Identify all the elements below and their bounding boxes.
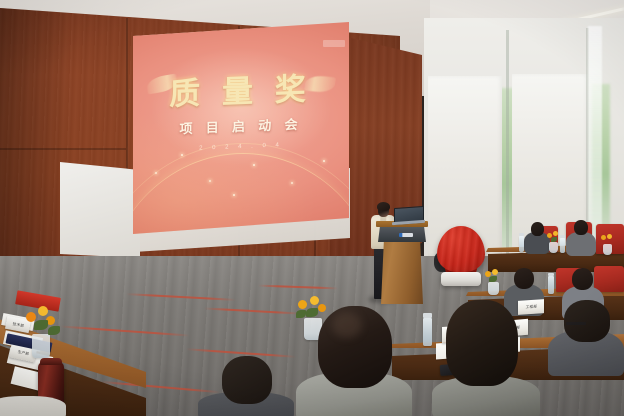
flower-bloom	[26, 312, 36, 322]
thermos-lid	[40, 358, 62, 365]
attendee-torso	[566, 232, 596, 256]
presentation-slide: 质 量 奖 项 目 启 动 会 2 0 2 4 . 0 4	[133, 22, 349, 234]
slide-sparkle	[291, 182, 293, 184]
placard-label: 工程部	[525, 305, 537, 309]
speaker-hair	[377, 202, 390, 211]
conference-room-photo: 质 量 奖 项 目 启 动 会 2 0 2 4 . 0 4	[0, 0, 624, 416]
bottle-cap	[548, 273, 554, 276]
eyeglasses-icon	[566, 322, 586, 325]
flower-leaf	[306, 308, 318, 317]
flower-bloom	[492, 269, 498, 275]
flower-bloom	[318, 304, 326, 312]
slide-sparkle	[233, 194, 235, 196]
water-bottle	[519, 236, 524, 252]
water-bottle	[548, 276, 554, 294]
flower-bloom	[607, 234, 612, 239]
attendee-head	[446, 300, 518, 386]
whiteboard-left	[60, 162, 140, 258]
chair	[594, 266, 624, 292]
attendee-head	[514, 268, 534, 289]
flower-vase	[32, 334, 50, 358]
placard-label: 生产部	[17, 350, 29, 356]
slide-title: 质 量 奖	[133, 62, 349, 115]
flower-bloom	[310, 296, 319, 305]
flower-leaf	[34, 320, 48, 330]
flower-leaf	[551, 237, 557, 242]
bottle-cap	[519, 233, 524, 236]
flower-bloom	[38, 306, 48, 316]
unveiling-base	[441, 272, 481, 286]
attendee-torso	[0, 396, 66, 416]
flower-vase	[488, 282, 499, 295]
slide-sparkle	[155, 172, 157, 174]
slide-sparkle	[181, 154, 183, 156]
flower-bloom	[298, 300, 307, 309]
slide-sparkle	[253, 164, 255, 166]
slide-sparkle	[323, 160, 325, 162]
podium-logo-icon	[399, 233, 413, 237]
flower-leaf	[296, 310, 306, 318]
attendee-hair-highlight	[332, 312, 362, 338]
attendee-head	[222, 356, 272, 404]
water-bottle	[560, 238, 565, 253]
attendee-head	[574, 220, 588, 235]
placard-label: 技术部	[12, 322, 24, 328]
attendee-head	[564, 300, 610, 342]
flower-bloom	[553, 231, 558, 236]
wall-panel-seam	[0, 148, 126, 150]
flower-vase	[603, 244, 612, 255]
bottle-cap	[560, 235, 565, 238]
window-mullion	[506, 30, 509, 256]
podium	[381, 238, 423, 304]
flower-leaf	[489, 276, 497, 282]
slide-sparkle	[209, 180, 211, 182]
projection-screen: 质 量 奖 项 目 启 动 会 2 0 2 4 . 0 4	[133, 22, 349, 234]
flower-leaf	[48, 326, 60, 335]
slide-corner-tag	[323, 40, 345, 47]
flower-vase	[549, 242, 558, 253]
flower-bloom	[601, 235, 606, 240]
bottle-cap	[423, 313, 432, 318]
attendee-head	[572, 268, 593, 290]
attendee-head	[531, 222, 544, 236]
water-bottle	[423, 318, 432, 346]
name-placard: 工程部	[518, 299, 544, 315]
